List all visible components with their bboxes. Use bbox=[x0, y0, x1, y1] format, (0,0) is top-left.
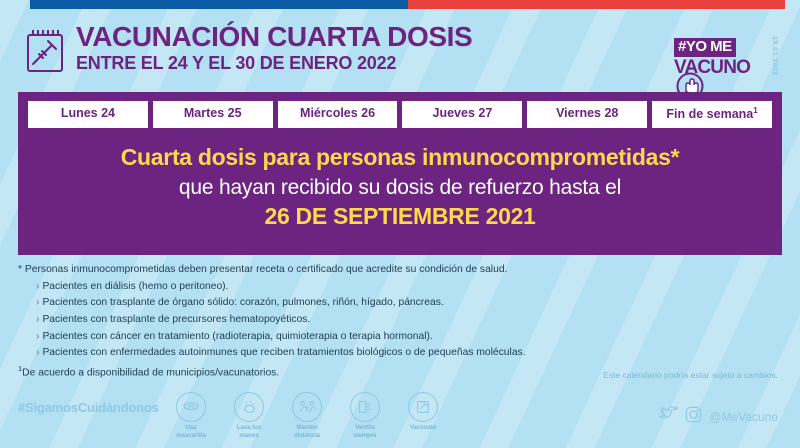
chevron-right-icon: › bbox=[36, 331, 39, 342]
note-item-text: Pacientes con trasplante de precursores … bbox=[42, 314, 310, 325]
tab-lunes-24[interactable]: Lunes 24 bbox=[28, 101, 148, 128]
note-item-text: Pacientes en diálisis (hemo o peritoneo)… bbox=[42, 281, 228, 292]
message-line-2: que hayan recibido su dosis de refuerzo … bbox=[38, 174, 762, 201]
logo-tag-primary: #YO ME bbox=[674, 38, 736, 57]
note-item: ›Pacientes con enfermedades autoinmunes … bbox=[18, 345, 782, 362]
wash-hands-icon bbox=[234, 392, 264, 422]
message-line-3: 26 DE SEPTIEMBRE 2021 bbox=[38, 203, 762, 231]
day-tabs: Lunes 24 Martes 25 Miércoles 26 Jueves 2… bbox=[18, 92, 782, 128]
asterisk-marker: * bbox=[18, 264, 22, 275]
note-item: ›Pacientes con trasplante de precursores… bbox=[18, 312, 782, 329]
header: VACUNACIÓN CUARTA DOSIS ENTRE EL 24 Y EL… bbox=[24, 22, 780, 84]
tab-label: Lunes 24 bbox=[61, 106, 115, 120]
page-title: VACUNACIÓN CUARTA DOSIS bbox=[76, 22, 472, 51]
page-subtitle: ENTRE EL 24 Y EL 30 DE ENERO 2022 bbox=[76, 53, 472, 75]
tab-label: Viernes 28 bbox=[556, 106, 618, 120]
note-item-text: Pacientes con enfermedades autoinmunes q… bbox=[42, 347, 525, 358]
instagram-icon[interactable] bbox=[685, 406, 702, 428]
care-label: Ventilasiempre bbox=[342, 425, 388, 440]
social-handle[interactable]: @MeVacuno bbox=[709, 410, 778, 424]
care-item-mask: Usamascarilla bbox=[168, 392, 214, 440]
distance-icon bbox=[292, 392, 322, 422]
footnote-main-text: Personas inmunocomprometidas deben prese… bbox=[25, 264, 508, 275]
tab-viernes-28[interactable]: Viernes 28 bbox=[527, 101, 647, 128]
chevron-right-icon: › bbox=[36, 297, 39, 308]
calendar-syringe-icon bbox=[24, 28, 66, 74]
care-measures: Usamascarilla Lava tusmanos Manténdistan… bbox=[168, 392, 446, 440]
care-item-distance: Manténdistancia bbox=[284, 392, 330, 440]
flag-red-segment bbox=[408, 0, 786, 9]
tab-label: Fin de semana bbox=[666, 107, 753, 121]
chevron-right-icon: › bbox=[36, 347, 39, 358]
note-item: ›Pacientes con trasplante de órgano sóli… bbox=[18, 295, 782, 312]
footnotes: * Personas inmunocomprometidas deben pre… bbox=[18, 262, 782, 382]
mask-icon bbox=[176, 392, 206, 422]
title-block: VACUNACIÓN CUARTA DOSIS ENTRE EL 24 Y EL… bbox=[76, 22, 472, 75]
care-item-vaccinate: Vacúnate bbox=[400, 392, 446, 440]
care-item-ventilate: Ventilasiempre bbox=[342, 392, 388, 440]
note-item: ›Pacientes con cáncer en tratamiento (ra… bbox=[18, 329, 782, 346]
chevron-right-icon: › bbox=[36, 281, 39, 292]
care-label: Usamascarilla bbox=[168, 425, 214, 440]
twitter-icon[interactable] bbox=[658, 406, 678, 428]
note-item: ›Pacientes en diálisis (hemo o peritoneo… bbox=[18, 279, 782, 296]
footnote-secondary-text: De acuerdo a disponibilidad de municipio… bbox=[22, 367, 279, 378]
tab-martes-25[interactable]: Martes 25 bbox=[153, 101, 273, 128]
vaccinate-icon bbox=[408, 392, 438, 422]
disclaimer-text: Este calendario podría estar sujeto a ca… bbox=[603, 370, 778, 380]
ventilate-icon bbox=[350, 392, 380, 422]
flag-blue-segment bbox=[30, 0, 408, 9]
care-item-wash-hands: Lava tusmanos bbox=[226, 392, 272, 440]
tab-jueves-27[interactable]: Jueves 27 bbox=[402, 101, 522, 128]
social-links[interactable]: @MeVacuno bbox=[658, 406, 778, 428]
footer-hashtag: #SigamosCuidándonos bbox=[18, 400, 159, 415]
care-label: Lava tusmanos bbox=[226, 425, 272, 440]
message-line-1: Cuarta dosis para personas inmunocomprom… bbox=[38, 144, 762, 172]
tab-label: Martes 25 bbox=[184, 106, 242, 120]
note-item-text: Pacientes con cáncer en tratamiento (rad… bbox=[42, 331, 432, 342]
tab-label: Jueves 27 bbox=[433, 106, 493, 120]
note-item-text: Pacientes con trasplante de órgano sólid… bbox=[42, 297, 443, 308]
tab-footnote-marker: 1 bbox=[753, 106, 757, 115]
main-message: Cuarta dosis para personas inmunocomprom… bbox=[18, 128, 782, 230]
chevron-right-icon: › bbox=[36, 314, 39, 325]
tab-miercoles-26[interactable]: Miércoles 26 bbox=[278, 101, 398, 128]
tab-label: Miércoles 26 bbox=[300, 106, 375, 120]
tab-fin-de-semana[interactable]: Fin de semana1 bbox=[652, 101, 772, 128]
care-label: Vacúnate bbox=[400, 425, 446, 433]
care-label: Manténdistancia bbox=[284, 425, 330, 440]
chile-flag-bar bbox=[30, 0, 785, 9]
footnote-main: * Personas inmunocomprometidas deben pre… bbox=[18, 262, 782, 279]
publication-date: 19.01.2022 bbox=[771, 36, 778, 76]
footer: #SigamosCuidándonos Usamascarilla Lava t… bbox=[0, 386, 800, 448]
main-panel: Lunes 24 Martes 25 Miércoles 26 Jueves 2… bbox=[18, 92, 782, 255]
